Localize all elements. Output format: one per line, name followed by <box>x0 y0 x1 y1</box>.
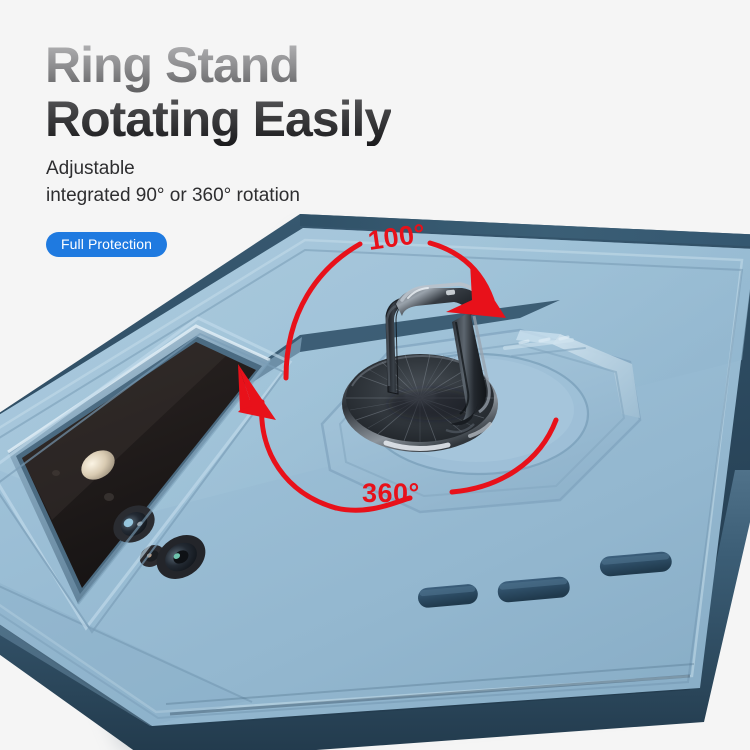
page-title: Ring Stand Rotating Easily <box>45 38 391 146</box>
annotation-label-360: 360° <box>362 478 420 509</box>
sensor-icon <box>104 493 114 501</box>
product-marketing-image: 100° 360° Ring Stand Rotating Easily Adj… <box>0 0 750 750</box>
status-badge: Full Protection <box>46 232 167 257</box>
page-subtitle: Adjustable integrated 90° or 360° rotati… <box>46 156 300 210</box>
microphone-icon <box>52 470 60 476</box>
